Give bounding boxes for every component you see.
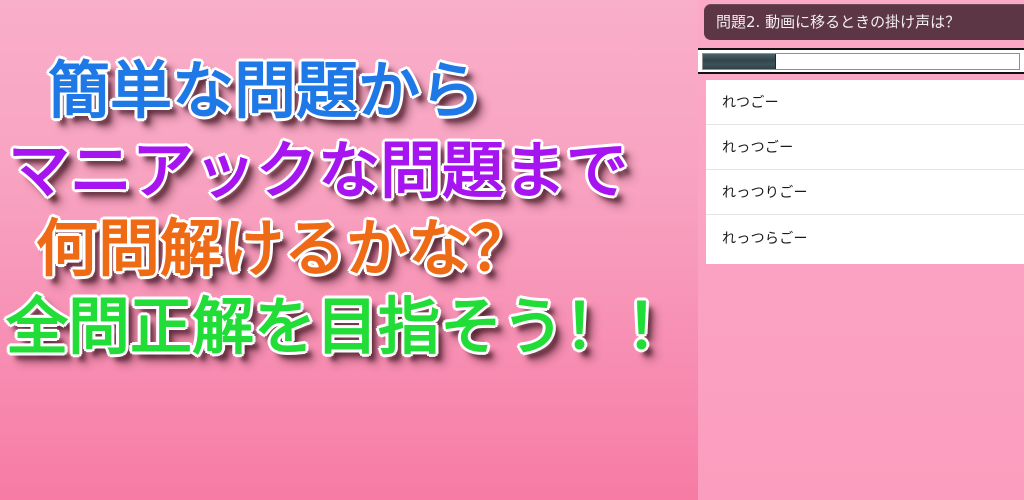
answer-options-card: れつごー れっつごー れっつりごー れっつらごー [706, 80, 1024, 264]
answer-option-4[interactable]: れっつらごー [706, 215, 1024, 260]
answer-option-label: れっつらごー [722, 228, 808, 248]
answer-option-3[interactable]: れっつりごー [706, 170, 1024, 215]
promo-text-block: 簡単な問題から マニアックな問題まで 何問解けるかな？ 全問正解を目指そう！！ [0, 0, 700, 500]
answer-option-label: れっつりごー [722, 182, 808, 202]
progress-bar-container [698, 48, 1024, 74]
quiz-panel: 問題2. 動画に移るときの掛け声は？ れつごー れっつごー れっつりごー れっつ… [698, 0, 1024, 500]
promo-line-3: 何問解けるかな？ [36, 218, 532, 280]
question-header: 問題2. 動画に移るときの掛け声は？ [704, 4, 1024, 40]
promo-line-4: 全問正解を目指そう！！ [6, 296, 688, 358]
app-screen: 簡単な問題から マニアックな問題まで 何問解けるかな？ 全問正解を目指そう！！ … [0, 0, 1024, 500]
question-title: 問題2. 動画に移るときの掛け声は？ [716, 11, 960, 32]
answer-option-label: れつごー [722, 92, 779, 112]
answer-option-label: れっつごー [722, 137, 794, 157]
answer-option-2[interactable]: れっつごー [706, 125, 1024, 170]
progress-track [702, 53, 1020, 70]
answer-option-1[interactable]: れつごー [706, 80, 1024, 125]
promo-line-1: 簡単な問題から [48, 60, 482, 122]
progress-fill [703, 54, 776, 69]
promo-line-2: マニアックな問題まで [8, 140, 628, 202]
